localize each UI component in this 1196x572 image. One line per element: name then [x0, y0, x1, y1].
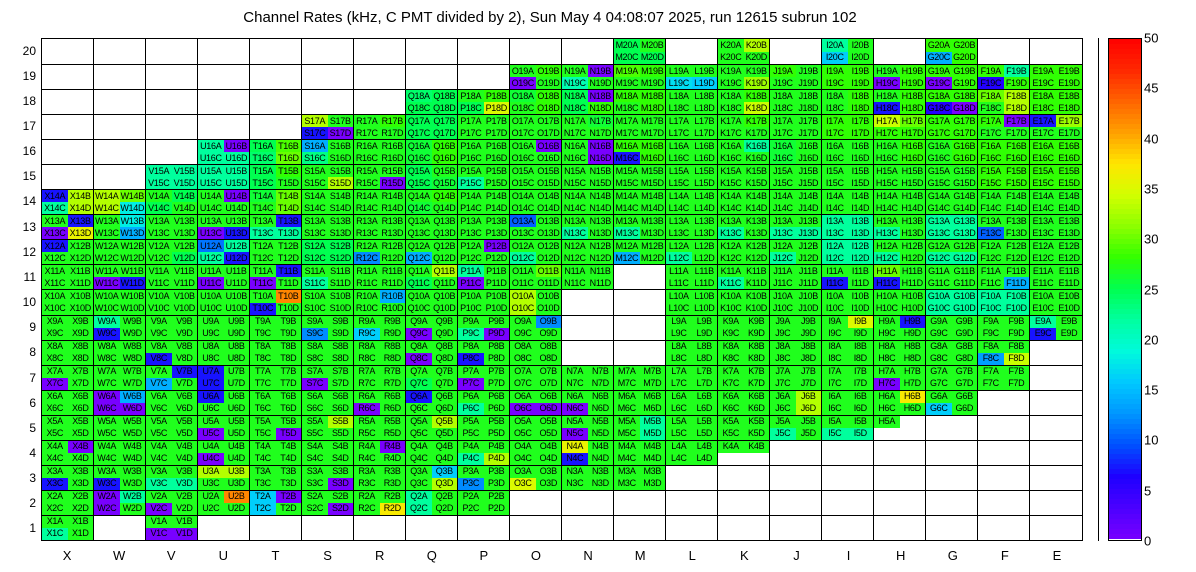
tower-cell-U5: U5AU5BU5CU5D	[198, 415, 250, 440]
tower-cell-T17	[250, 114, 302, 139]
channel-G16C: G16C	[926, 152, 952, 164]
channel-R12D: R12D	[380, 252, 406, 264]
channel-V7A: V7A	[146, 366, 172, 378]
channel-E19C: E19C	[1030, 77, 1056, 89]
tower-cell-M13: M13AM13BM13CM13D	[614, 214, 666, 239]
channel-T6A: T6A	[250, 391, 276, 403]
channel-U2C: U2C	[198, 503, 224, 515]
channel-W9D: W9D	[120, 328, 146, 340]
channel-L14C: L14C	[666, 202, 692, 214]
channel-X7D: X7D	[68, 378, 94, 390]
channel-N16A: N16A	[562, 140, 588, 152]
channel-S2D: S2D	[328, 503, 354, 515]
channel-S8B: S8B	[328, 341, 354, 353]
channel-J14C: J14C	[770, 202, 796, 214]
tower-cell-O1	[510, 515, 562, 540]
channel-F9A: F9A	[978, 316, 1004, 328]
tower-cell-Q13: Q13AQ13BQ13CQ13D	[406, 214, 458, 239]
tower-cell-H16: H16AH16BH16CH16D	[874, 139, 926, 164]
channel-T15C: T15C	[250, 177, 276, 189]
channel-O20A	[510, 39, 536, 52]
channel-X12A: X12A	[42, 240, 68, 252]
channel-P8B: P8B	[484, 341, 510, 353]
channel-E10B: E10B	[1056, 290, 1082, 302]
channel-W7C: W7C	[94, 378, 120, 390]
channel-S3A: S3A	[302, 466, 328, 478]
channel-K9B: K9B	[744, 316, 770, 328]
channel-F18A: F18A	[978, 90, 1004, 102]
channel-E6A	[1030, 391, 1056, 403]
channel-V7D: V7D	[172, 378, 198, 390]
channel-F17B: F17B	[1004, 115, 1030, 127]
channel-G14D: G14D	[952, 202, 978, 214]
tower-cell-E10: E10AE10BE10CE10D	[1030, 289, 1082, 314]
channel-X7A: X7A	[42, 366, 68, 378]
tower-cell-Q18: Q18AQ18BQ18CQ18D	[406, 89, 458, 114]
channel-S18B	[328, 90, 354, 102]
channel-H8C: H8C	[874, 353, 900, 365]
channel-E5B	[1056, 416, 1082, 428]
channel-E20C	[1030, 52, 1056, 65]
channel-H2B	[900, 491, 926, 503]
channel-P10D: P10D	[484, 303, 510, 315]
channel-I5D: I5D	[848, 428, 874, 440]
channel-X2D: X2D	[68, 503, 94, 515]
tower-cell-S14: S14AS14BS14CS14D	[302, 189, 354, 214]
tower-cell-K14: K14AK14BK14CK14D	[718, 189, 770, 214]
tower-cell-L6: L6AL6BL6CL6D	[666, 390, 718, 415]
channel-H20B	[900, 39, 926, 52]
channel-H15D: H15D	[900, 177, 926, 189]
channel-T10B: T10B	[276, 290, 302, 302]
channel-T1D	[276, 528, 302, 540]
channel-J10B: J10B	[796, 290, 822, 302]
channel-X4C: X4C	[42, 453, 68, 465]
channel-H16C: H16C	[874, 152, 900, 164]
channel-X9C: X9C	[42, 328, 68, 340]
channel-R3D: R3D	[380, 478, 406, 490]
channel-Q5D: Q5D	[432, 428, 458, 440]
channel-R10C: R10C	[354, 303, 380, 315]
channel-H13C: H13C	[874, 227, 900, 239]
tower-cell-U7: U7AU7BU7CU7D	[198, 365, 250, 390]
channel-N18D: N18D	[588, 102, 614, 114]
channel-V9B: V9B	[172, 316, 198, 328]
channel-U9C: U9C	[198, 328, 224, 340]
channel-F15A: F15A	[978, 165, 1004, 177]
channel-Q14D: Q14D	[432, 202, 458, 214]
tower-cell-U19	[198, 64, 250, 89]
tower-cell-M5: M5AM5BM5CM5D	[614, 415, 666, 440]
channel-H11C: H11C	[874, 277, 900, 289]
channel-R2B: R2B	[380, 491, 406, 503]
channel-O2A	[510, 491, 536, 503]
channel-K3C	[718, 478, 744, 490]
channel-E4B	[1056, 441, 1082, 453]
channel-P5A: P5A	[458, 416, 484, 428]
channel-O10A: O10A	[510, 290, 536, 302]
channel-K1C	[718, 528, 744, 540]
channel-J13A: J13A	[770, 215, 796, 227]
channel-O17B: O17B	[536, 115, 562, 127]
channel-X3D: X3D	[68, 478, 94, 490]
channel-V9D: V9D	[172, 328, 198, 340]
channel-I18A: I18A	[822, 90, 848, 102]
channel-L13A: L13A	[666, 215, 692, 227]
channel-R4A: R4A	[354, 441, 380, 453]
tower-cell-R10: R10AR10BR10CR10D	[354, 289, 406, 314]
tower-cell-S13: S13AS13BS13CS13D	[302, 214, 354, 239]
channel-G10A: G10A	[926, 290, 952, 302]
tower-cell-U14: U14AU14BU14CU14D	[198, 189, 250, 214]
channel-P9B: P9B	[484, 316, 510, 328]
channel-R17A: R17A	[354, 115, 380, 127]
channel-J14D: J14D	[796, 202, 822, 214]
channel-E15A: E15A	[1030, 165, 1056, 177]
tower-cell-M18: M18AM18BM18CM18D	[614, 89, 666, 114]
channel-N19D: N19D	[588, 77, 614, 89]
channel-R1B	[380, 516, 406, 528]
y-axis-tick-13: 13	[10, 220, 36, 234]
channel-S16D: S16D	[328, 152, 354, 164]
channel-E17C: E17C	[1030, 127, 1056, 139]
tower-cell-T1	[250, 515, 302, 540]
channel-T17C	[250, 127, 276, 139]
channel-R19C	[354, 77, 380, 89]
channel-G7C: G7C	[926, 378, 952, 390]
channel-U10B: U10B	[224, 290, 250, 302]
channel-X12D: X12D	[68, 252, 94, 264]
tower-cell-V15: V15AV15BV15CV15D	[146, 164, 198, 189]
channel-L12A: L12A	[666, 240, 692, 252]
tower-cell-H6: H6AH6BH6CH6D	[874, 390, 926, 415]
channel-H13D: H13D	[900, 227, 926, 239]
channel-L15B: L15B	[692, 165, 718, 177]
channel-R10B: R10B	[380, 290, 406, 302]
channel-Q12B: Q12B	[432, 240, 458, 252]
channel-N12B: N12B	[588, 240, 614, 252]
tower-cell-L3	[666, 465, 718, 490]
channel-T11A: T11A	[250, 265, 276, 277]
tower-cell-L9: L9AL9BL9CL9D	[666, 315, 718, 340]
channel-J4A	[770, 441, 796, 453]
channel-P13B: P13B	[484, 215, 510, 227]
channel-L9C: L9C	[666, 328, 692, 340]
channel-I16A: I16A	[822, 140, 848, 152]
tower-cell-R15: R15AR15BR15CR15D	[354, 164, 406, 189]
channel-S4A: S4A	[302, 441, 328, 453]
channel-S10A: S10A	[302, 290, 328, 302]
channel-W3B: W3B	[120, 466, 146, 478]
tower-cell-T2: T2AT2BT2CT2D	[250, 490, 302, 515]
channel-G16D: G16D	[952, 152, 978, 164]
channel-R7B: R7B	[380, 366, 406, 378]
channel-O8D: O8D	[536, 353, 562, 365]
channel-J7A: J7A	[770, 366, 796, 378]
channel-X6D: X6D	[68, 403, 94, 415]
tower-cell-E15: E15AE15BE15CE15D	[1030, 164, 1082, 189]
channel-O15B: O15B	[536, 165, 562, 177]
channel-H13A: H13A	[874, 215, 900, 227]
channel-L7B: L7B	[692, 366, 718, 378]
channel-T1C	[250, 528, 276, 540]
tower-cell-K17: K17AK17BK17CK17D	[718, 114, 770, 139]
channel-V8D: V8D	[172, 353, 198, 365]
channel-L3B	[692, 466, 718, 478]
tower-cell-M2	[614, 490, 666, 515]
channel-U3C: U3C	[198, 478, 224, 490]
channel-M13C: M13C	[614, 227, 640, 239]
channel-I7A: I7A	[822, 366, 848, 378]
channel-S13C: S13C	[302, 227, 328, 239]
tower-cell-I7: I7AI7BI7CI7D	[822, 365, 874, 390]
channel-O6C: O6C	[510, 403, 536, 415]
channel-P12C: P12C	[458, 252, 484, 264]
channel-O15A: O15A	[510, 165, 536, 177]
channel-R18D	[380, 102, 406, 114]
channel-N11B: N11B	[588, 265, 614, 277]
tower-cell-O20	[510, 39, 562, 64]
channel-rates-heatmap-page: Channel Rates (kHz, C PMT divided by 2),…	[0, 0, 1196, 572]
channel-I17D: I17D	[848, 127, 874, 139]
channel-T9A: T9A	[250, 316, 276, 328]
channel-N11C: N11C	[562, 277, 588, 289]
tower-cell-V20	[146, 39, 198, 64]
tower-cell-E8	[1030, 340, 1082, 365]
channel-T5D: T5D	[276, 428, 302, 440]
channel-J15D: J15D	[796, 177, 822, 189]
channel-P14B: P14B	[484, 190, 510, 202]
channel-J2C	[770, 503, 796, 515]
channel-F12B: F12B	[1004, 240, 1030, 252]
channel-X1D: X1D	[68, 528, 94, 540]
channel-W15B	[120, 165, 146, 177]
channel-I10C: I10C	[822, 303, 848, 315]
channel-F16B: F16B	[1004, 140, 1030, 152]
channel-E19A: E19A	[1030, 65, 1056, 77]
channel-I7D: I7D	[848, 378, 874, 390]
channel-O9B: O9B	[536, 316, 562, 328]
channel-L16B: L16B	[692, 140, 718, 152]
channel-J10D: J10D	[796, 303, 822, 315]
tower-cell-P20	[458, 39, 510, 64]
channel-U14D: U14D	[224, 202, 250, 214]
tower-cell-I1	[822, 515, 874, 540]
channel-X5B: X5B	[68, 416, 94, 428]
channel-J17B: J17B	[796, 115, 822, 127]
channel-S1D	[328, 528, 354, 540]
channel-N12D: N12D	[588, 252, 614, 264]
channel-H1A	[874, 516, 900, 528]
channel-M3A: M3A	[614, 466, 640, 478]
channel-H20C	[874, 52, 900, 65]
channel-X13B: X13B	[68, 215, 94, 227]
channel-R15A: R15A	[354, 165, 380, 177]
channel-J17A: J17A	[770, 115, 796, 127]
channel-M20B: M20B	[640, 39, 666, 52]
channel-S17D: S17D	[328, 127, 354, 139]
channel-E18C: E18C	[1030, 102, 1056, 114]
channel-O10D: O10D	[536, 303, 562, 315]
channel-I13D: I13D	[848, 227, 874, 239]
channel-W3D: W3D	[120, 478, 146, 490]
channel-W13C: W13C	[94, 227, 120, 239]
channel-O11B: O11B	[536, 265, 562, 277]
channel-E8B	[1056, 341, 1082, 353]
channel-N4D: N4D	[588, 453, 614, 465]
channel-S12A: S12A	[302, 240, 328, 252]
channel-Q18A: Q18A	[406, 90, 432, 102]
tower-cell-P7: P7AP7BP7CP7D	[458, 365, 510, 390]
channel-V20B	[172, 39, 198, 52]
tower-cell-U18	[198, 89, 250, 114]
channel-U16B: U16B	[224, 140, 250, 152]
tower-cell-S4: S4AS4BS4CS4D	[302, 440, 354, 465]
channel-S2C: S2C	[302, 503, 328, 515]
channel-R4C: R4C	[354, 453, 380, 465]
channel-H18D: H18D	[900, 102, 926, 114]
channel-W11B: W11B	[120, 265, 146, 277]
tower-cell-X9: X9AX9BX9CX9D	[42, 315, 94, 340]
channel-O11A: O11A	[510, 265, 536, 277]
channel-J17D: J17D	[796, 127, 822, 139]
channel-L2C	[666, 503, 692, 515]
channel-W13B: W13B	[120, 215, 146, 227]
tower-cell-Q4: Q4AQ4BQ4CQ4D	[406, 440, 458, 465]
channel-W13D: W13D	[120, 227, 146, 239]
channel-P4A: P4A	[458, 441, 484, 453]
channel-G15A: G15A	[926, 165, 952, 177]
channel-V13D: V13D	[172, 227, 198, 239]
channel-X1C: X1C	[42, 528, 68, 540]
tower-cell-P1	[458, 515, 510, 540]
channel-G15D: G15D	[952, 177, 978, 189]
channel-U4A: U4A	[198, 441, 224, 453]
channel-H14B: H14B	[900, 190, 926, 202]
tower-cell-G15: G15AG15BG15CG15D	[926, 164, 978, 189]
channel-Q6D: Q6D	[432, 403, 458, 415]
channel-U3A: U3A	[198, 466, 224, 478]
tower-cell-R5: R5AR5BR5CR5D	[354, 415, 406, 440]
channel-L17C: L17C	[666, 127, 692, 139]
channel-H6C: H6C	[874, 403, 900, 415]
channel-N8C	[562, 353, 588, 365]
x-axis-tick-X: X	[63, 548, 72, 563]
channel-G2C	[926, 503, 952, 515]
tower-cell-T20	[250, 39, 302, 64]
channel-P10C: P10C	[458, 303, 484, 315]
channel-L8B: L8B	[692, 341, 718, 353]
channel-Q8D: Q8D	[432, 353, 458, 365]
channel-L15D: L15D	[692, 177, 718, 189]
channel-L16C: L16C	[666, 152, 692, 164]
channel-H17B: H17B	[900, 115, 926, 127]
channel-L16D: L16D	[692, 152, 718, 164]
channel-E15C: E15C	[1030, 177, 1056, 189]
channel-F8A: F8A	[978, 341, 1004, 353]
channel-W5C: W5C	[94, 428, 120, 440]
tower-cell-P18: P18AP18BP18CP18D	[458, 89, 510, 114]
channel-E4D	[1056, 453, 1082, 465]
colorbar-tick-label-5: 5	[1144, 483, 1151, 498]
channel-I3A	[822, 466, 848, 478]
channel-L13D: L13D	[692, 227, 718, 239]
channel-V6A: V6A	[146, 391, 172, 403]
channel-V5B: V5B	[172, 416, 198, 428]
channel-O17D: O17D	[536, 127, 562, 139]
channel-S5D: S5D	[328, 428, 354, 440]
channel-N11A: N11A	[562, 265, 588, 277]
channel-T17B	[276, 115, 302, 127]
channel-X9D: X9D	[68, 328, 94, 340]
channel-Q17D: Q17D	[432, 127, 458, 139]
channel-Q5C: Q5C	[406, 428, 432, 440]
channel-S15A: S15A	[302, 165, 328, 177]
channel-I4B	[848, 441, 874, 453]
channel-E19B: E19B	[1056, 65, 1082, 77]
channel-Q11B: Q11B	[432, 265, 458, 277]
channel-J19B: J19B	[796, 65, 822, 77]
channel-I14A: I14A	[822, 190, 848, 202]
channel-G3C	[926, 478, 952, 490]
tower-cell-M7: M7AM7BM7CM7D	[614, 365, 666, 390]
tower-cell-J8: J8AJ8BJ8CJ8D	[770, 340, 822, 365]
channel-I5C: I5C	[822, 428, 848, 440]
channel-U17C	[198, 127, 224, 139]
channel-O19A: O19A	[510, 65, 536, 77]
tower-cell-O6: O6AO6BO6CO6D	[510, 390, 562, 415]
channel-V20D	[172, 52, 198, 65]
channel-S16C: S16C	[302, 152, 328, 164]
channel-R16D: R16D	[380, 152, 406, 164]
channel-R8C: R8C	[354, 353, 380, 365]
channel-L9D: L9D	[692, 328, 718, 340]
channel-U1D	[224, 528, 250, 540]
channel-H12B: H12B	[900, 240, 926, 252]
channel-X7B: X7B	[68, 366, 94, 378]
channel-H5D	[900, 428, 926, 440]
channel-O1B	[536, 516, 562, 528]
channel-K7B: K7B	[744, 366, 770, 378]
channel-I9C: I9C	[822, 328, 848, 340]
channel-V17D	[172, 127, 198, 139]
channel-M18C: M18C	[614, 102, 640, 114]
channel-U1A	[198, 516, 224, 528]
channel-N1C	[562, 528, 588, 540]
channel-V3D: V3D	[172, 478, 198, 490]
channel-O14D: O14D	[536, 202, 562, 214]
channel-S5B: S5B	[328, 416, 354, 428]
channel-T19B	[276, 65, 302, 77]
channel-T3B: T3B	[276, 466, 302, 478]
channel-T13D: T13D	[276, 227, 302, 239]
channel-W12B: W12B	[120, 240, 146, 252]
channel-K6A: K6A	[718, 391, 744, 403]
channel-S6A: S6A	[302, 391, 328, 403]
tower-cell-T6: T6AT6BT6CT6D	[250, 390, 302, 415]
tower-cell-J5: J5AJ5BJ5CJ5D	[770, 415, 822, 440]
channel-Q13C: Q13C	[406, 227, 432, 239]
channel-X3B: X3B	[68, 466, 94, 478]
channel-I4C	[822, 453, 848, 465]
channel-Q1A	[406, 516, 432, 528]
channel-U7C: U7C	[198, 378, 224, 390]
channel-I3B	[848, 466, 874, 478]
tower-cell-V10: V10AV10BV10CV10D	[146, 289, 198, 314]
channel-M5B: M5B	[640, 416, 666, 428]
tower-cell-W2: W2AW2BW2CW2D	[94, 490, 146, 515]
channel-G19B: G19B	[952, 65, 978, 77]
